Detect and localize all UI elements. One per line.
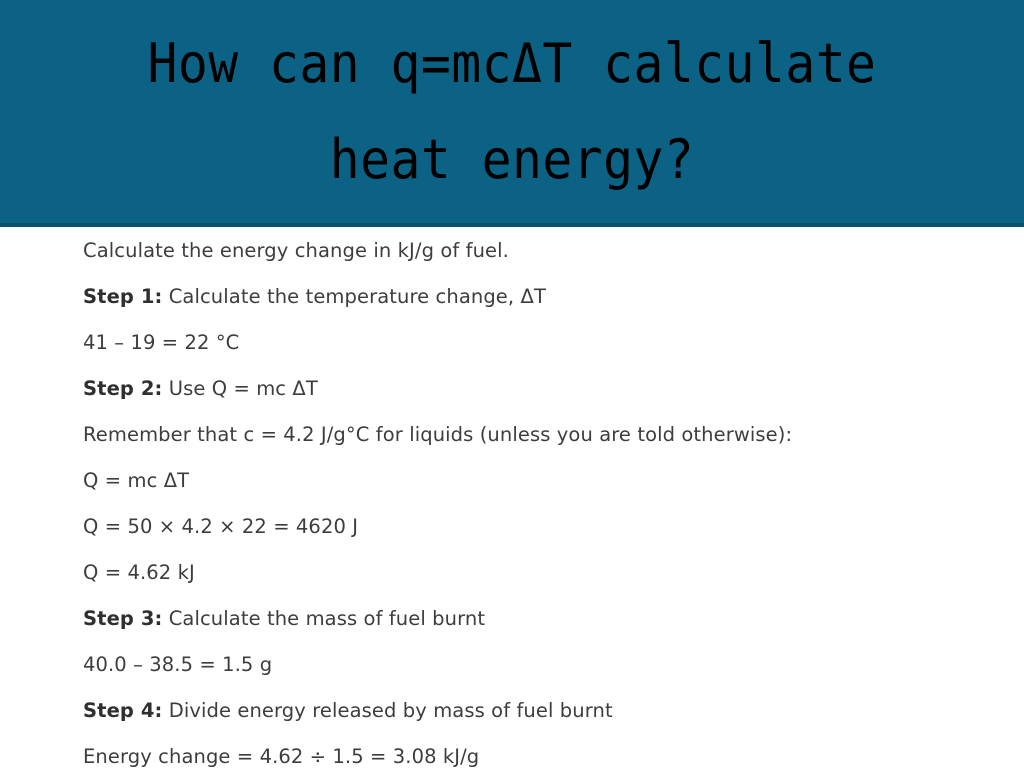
body-line: 41 – 19 = 22 °C <box>83 320 983 366</box>
body-line: Q = mc ΔT <box>83 458 983 504</box>
body-line-label: Step 4: <box>83 699 162 722</box>
body-line: Energy change = 4.62 ÷ 1.5 = 3.08 kJ/g <box>83 734 983 768</box>
body-line-text: Calculate the mass of fuel burnt <box>162 607 485 630</box>
body-line-label: Step 3: <box>83 607 162 630</box>
body-line-text: Remember that c = 4.2 J/g°C for liquids … <box>83 423 792 446</box>
body-line: Step 4: Divide energy released by mass o… <box>83 688 983 734</box>
body-line-text: Divide energy released by mass of fuel b… <box>162 699 612 722</box>
body-line-label: Step 1: <box>83 285 162 308</box>
slide: How can q=mcΔT calculate heat energy? Ca… <box>0 0 1024 768</box>
body-line-text: 41 – 19 = 22 °C <box>83 331 239 354</box>
body-line: Step 3: Calculate the mass of fuel burnt <box>83 596 983 642</box>
body-line-text: Calculate the temperature change, ΔT <box>162 285 546 308</box>
body-line: 40.0 – 38.5 = 1.5 g <box>83 642 983 688</box>
slide-title-line-1: How can q=mcΔT calculate <box>41 16 983 112</box>
slide-title-line-2: heat energy? <box>41 112 983 208</box>
body-line-text: Calculate the energy change in kJ/g of f… <box>83 239 509 262</box>
body-line-label: Step 2: <box>83 377 162 400</box>
slide-body: Calculate the energy change in kJ/g of f… <box>83 228 983 768</box>
body-line-text: Q = 50 × 4.2 × 22 = 4620 J <box>83 515 358 538</box>
body-line-text: 40.0 – 38.5 = 1.5 g <box>83 653 272 676</box>
body-line-text: Q = 4.62 kJ <box>83 561 195 584</box>
body-line: Q = 50 × 4.2 × 22 = 4620 J <box>83 504 983 550</box>
body-line: Remember that c = 4.2 J/g°C for liquids … <box>83 412 983 458</box>
body-line-text: Q = mc ΔT <box>83 469 189 492</box>
body-line-text: Energy change = 4.62 ÷ 1.5 = 3.08 kJ/g <box>83 745 479 768</box>
body-line-text: Use Q = mc ΔT <box>162 377 317 400</box>
body-line: Calculate the energy change in kJ/g of f… <box>83 228 983 274</box>
body-line: Step 1: Calculate the temperature change… <box>83 274 983 320</box>
body-line: Step 2: Use Q = mc ΔT <box>83 366 983 412</box>
title-banner: How can q=mcΔT calculate heat energy? <box>0 0 1024 227</box>
body-line: Q = 4.62 kJ <box>83 550 983 596</box>
